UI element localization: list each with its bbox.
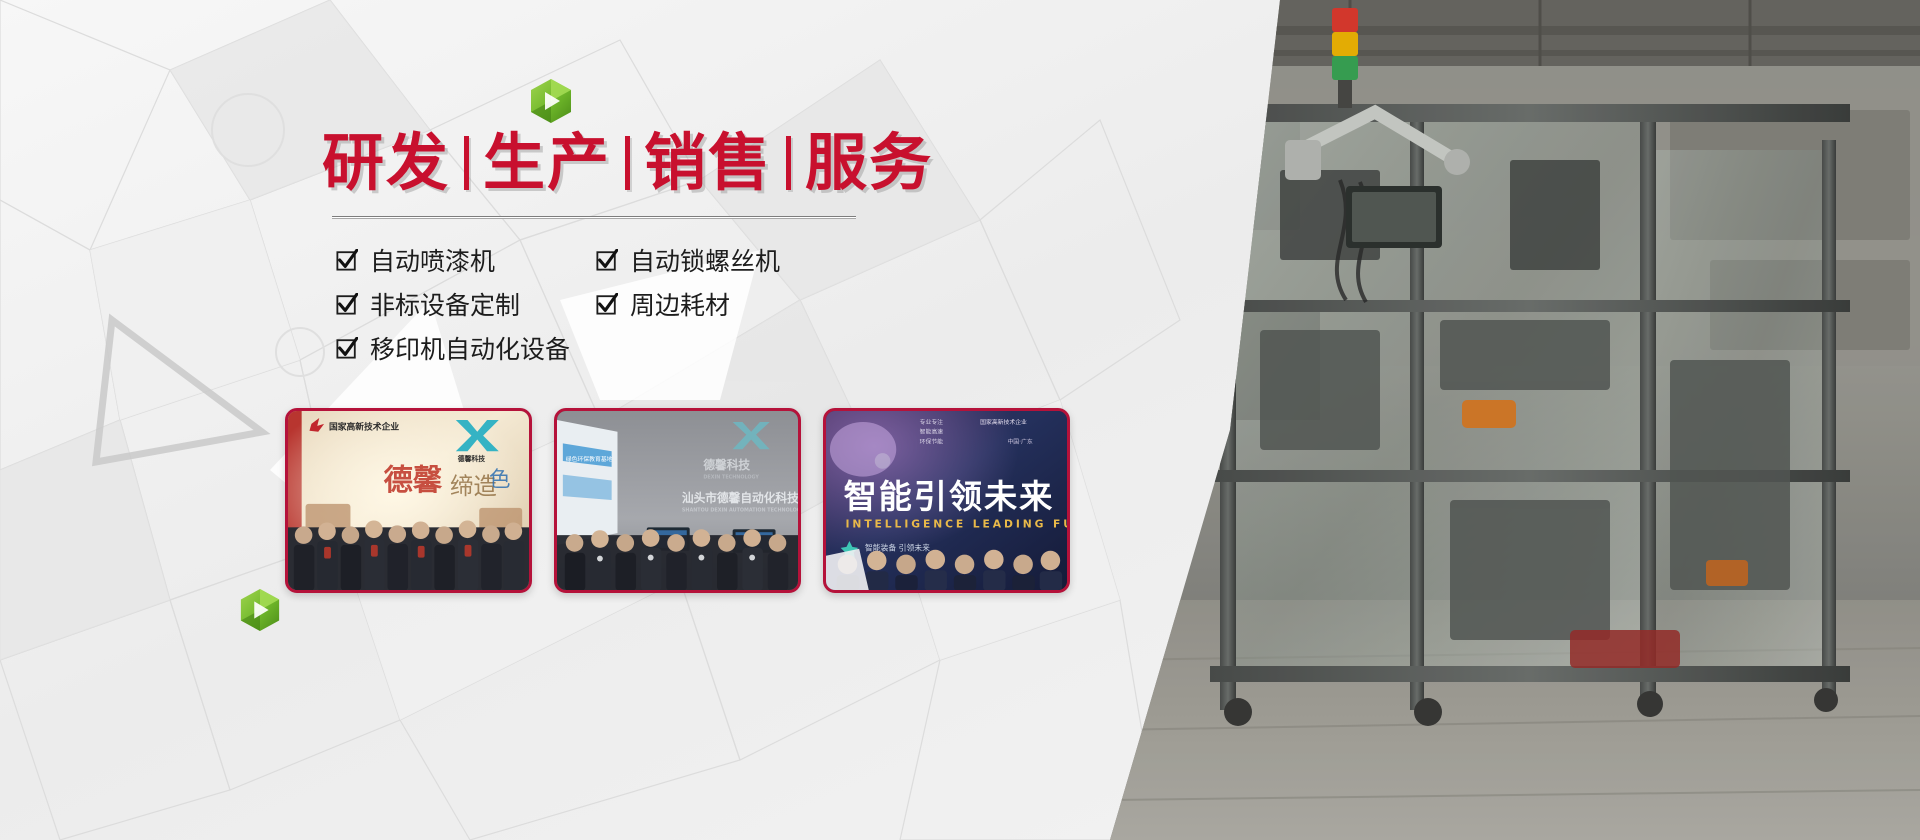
thumbnail-team-exhibition[interactable]: 专业专注 智能高速 环保节能 国家高新技术企业 中国·广东 智能引领未来 INT… <box>823 408 1070 593</box>
svg-text:SHANTOU DEXIN AUTOMATION TECHN: SHANTOU DEXIN AUTOMATION TECHNOLOGY CO.,… <box>682 508 798 514</box>
headline-segment-0: 研发 <box>322 132 450 194</box>
hexagon-bottom-icon <box>238 588 282 632</box>
headline-segment-1: 生产 <box>483 132 611 194</box>
feature-list: 自动喷漆机 自动锁螺丝机 非标设备定制 <box>336 238 856 370</box>
headline-separator-2 <box>786 136 791 190</box>
headline-segment-2: 销售 <box>644 132 772 194</box>
industrial-machine-photo <box>1110 0 1920 840</box>
check-box-icon <box>596 293 618 315</box>
title-divider <box>332 216 856 219</box>
check-box-icon <box>336 337 358 359</box>
feature-label: 自动锁螺丝机 <box>630 242 780 278</box>
svg-text:德馨科技: 德馨科技 <box>702 458 750 472</box>
svg-text:色: 色 <box>489 467 510 492</box>
feature-item-1: 自动锁螺丝机 <box>596 238 856 282</box>
feature-item-2: 非标设备定制 <box>336 282 596 326</box>
page-title: 研发 生产 销售 服务 <box>322 128 933 198</box>
svg-text:德馨: 德馨 <box>384 463 443 497</box>
feature-label: 周边耗材 <box>630 286 730 322</box>
svg-text:中国·广东: 中国·广东 <box>1007 437 1032 445</box>
thumbnail-team-award[interactable]: 国家高新技术企业 德馨科技 德馨 缔造 色 <box>285 408 532 593</box>
headline-separator-1 <box>625 136 630 190</box>
svg-text:INTELLIGENCE LEADING FUTURE: INTELLIGENCE LEADING FUTURE <box>846 517 1067 530</box>
check-box-icon <box>336 249 358 271</box>
headline-separator-0 <box>464 136 469 190</box>
svg-text:国家高新技术企业: 国家高新技术企业 <box>329 421 399 433</box>
headline-segment-3: 服务 <box>805 132 933 194</box>
svg-text:国家高新技术企业: 国家高新技术企业 <box>980 418 1027 426</box>
thumbnail-team-lobby[interactable]: 绿色环保教育基地 德馨科技 DEXIN TECHNOLOGY 汕头市德馨自动化科… <box>554 408 801 593</box>
hexagon-top-icon <box>528 78 574 124</box>
svg-text:专业专注: 专业专注 <box>920 418 944 426</box>
svg-text:智能高速: 智能高速 <box>920 428 944 436</box>
svg-text:绿色环保教育基地: 绿色环保教育基地 <box>566 455 613 463</box>
promo-banner: 研发 生产 销售 服务 自动喷漆机 自动锁螺 <box>0 0 1920 840</box>
check-box-icon <box>596 249 618 271</box>
photo-thumbnail-strip: 国家高新技术企业 德馨科技 德馨 缔造 色 <box>285 408 1070 593</box>
svg-text:DEXIN TECHNOLOGY: DEXIN TECHNOLOGY <box>703 475 759 481</box>
feature-item-4: 移印机自动化设备 <box>336 326 856 370</box>
feature-label: 非标设备定制 <box>370 286 520 322</box>
svg-text:环保节能: 环保节能 <box>920 437 944 445</box>
feature-item-3: 周边耗材 <box>596 282 856 326</box>
check-box-icon <box>336 293 358 315</box>
feature-item-0: 自动喷漆机 <box>336 238 596 282</box>
svg-text:德馨科技: 德馨科技 <box>458 454 485 463</box>
svg-text:智能引领未来: 智能引领未来 <box>844 477 1055 516</box>
feature-label: 自动喷漆机 <box>370 242 495 278</box>
svg-text:汕头市德馨自动化科技有限公司: 汕头市德馨自动化科技有限公司 <box>682 491 798 505</box>
feature-label: 移印机自动化设备 <box>370 330 570 366</box>
